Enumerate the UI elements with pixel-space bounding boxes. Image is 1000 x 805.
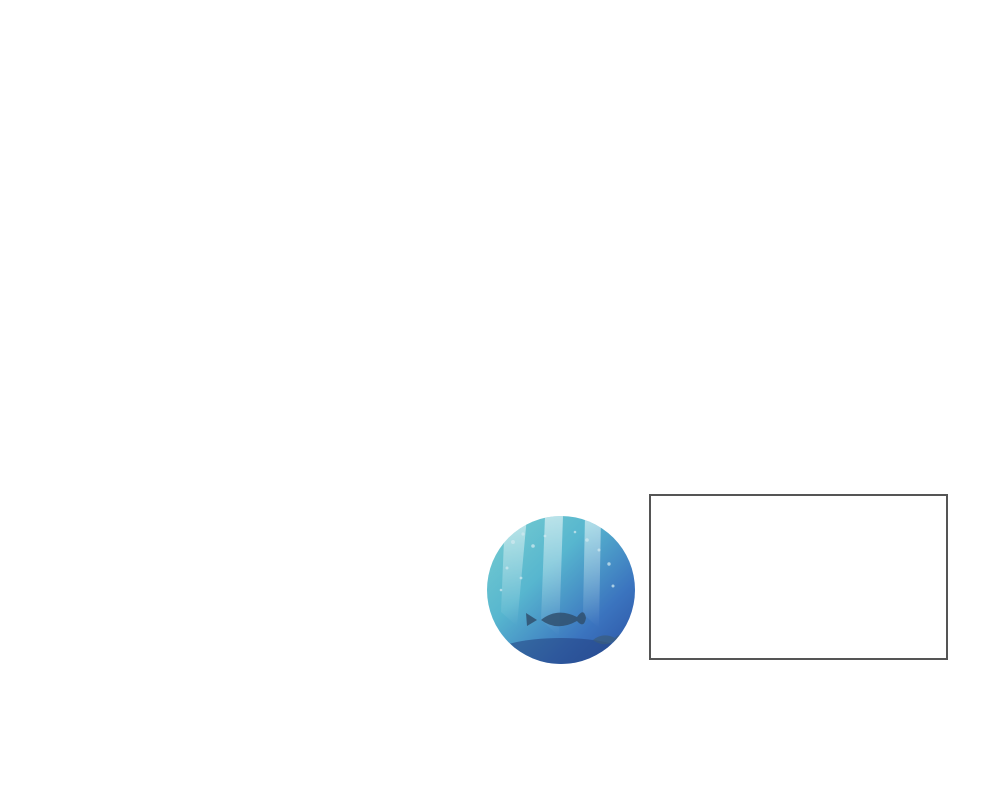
chart-canvas xyxy=(0,0,1000,805)
chart-legend xyxy=(649,494,948,660)
jscope-logo xyxy=(487,516,635,664)
logo-underwater-scene xyxy=(487,516,635,664)
plot-area xyxy=(0,0,1000,805)
